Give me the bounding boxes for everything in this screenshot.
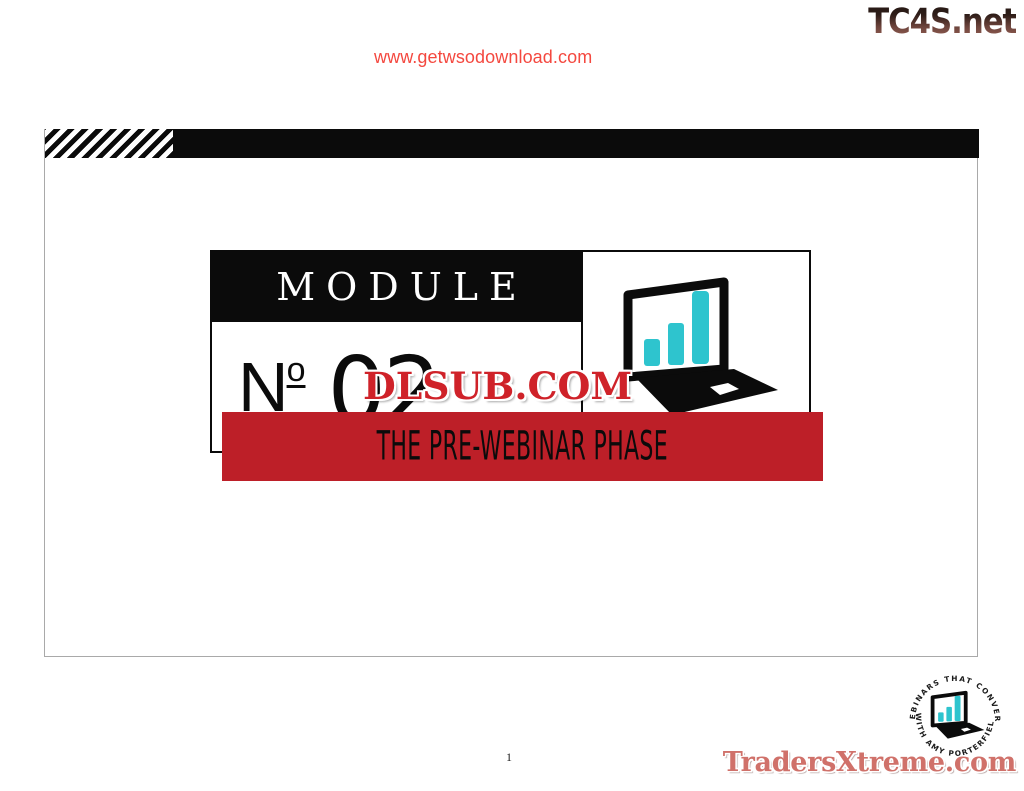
laptop-bar-chart-icon bbox=[606, 277, 786, 427]
badge-laptop-icon bbox=[933, 693, 985, 739]
badge-graphic: WEBINARS THAT CONVERT WITH AMY PORTERFIE… bbox=[903, 665, 1007, 769]
module-subtitle-banner: THE PRE-WEBINAR PHASE bbox=[222, 412, 823, 481]
page-number: 1 bbox=[506, 750, 512, 765]
document-page: TC4S.net www.getwsodownload.com MODULE N… bbox=[0, 0, 1024, 791]
module-subtitle-label: THE PRE-WEBINAR PHASE bbox=[377, 426, 668, 466]
watermark-getwsodownload: www.getwsodownload.com bbox=[374, 47, 592, 68]
diagonal-stripes-decoration bbox=[45, 129, 173, 158]
watermark-tc4s: TC4S.net bbox=[868, 2, 1016, 42]
slide-top-bar bbox=[45, 129, 979, 158]
module-card: MODULE No 02 bbox=[210, 250, 811, 453]
watermark-dlsub: DLSUB.COM bbox=[363, 364, 632, 408]
module-band: MODULE bbox=[212, 252, 581, 322]
module-number-prefix: No bbox=[238, 355, 305, 419]
module-band-label: MODULE bbox=[265, 268, 528, 306]
module-number-prefix-ordinal: o bbox=[287, 351, 306, 389]
webinars-that-convert-badge: WEBINARS THAT CONVERT WITH AMY PORTERFIE… bbox=[903, 665, 1007, 769]
